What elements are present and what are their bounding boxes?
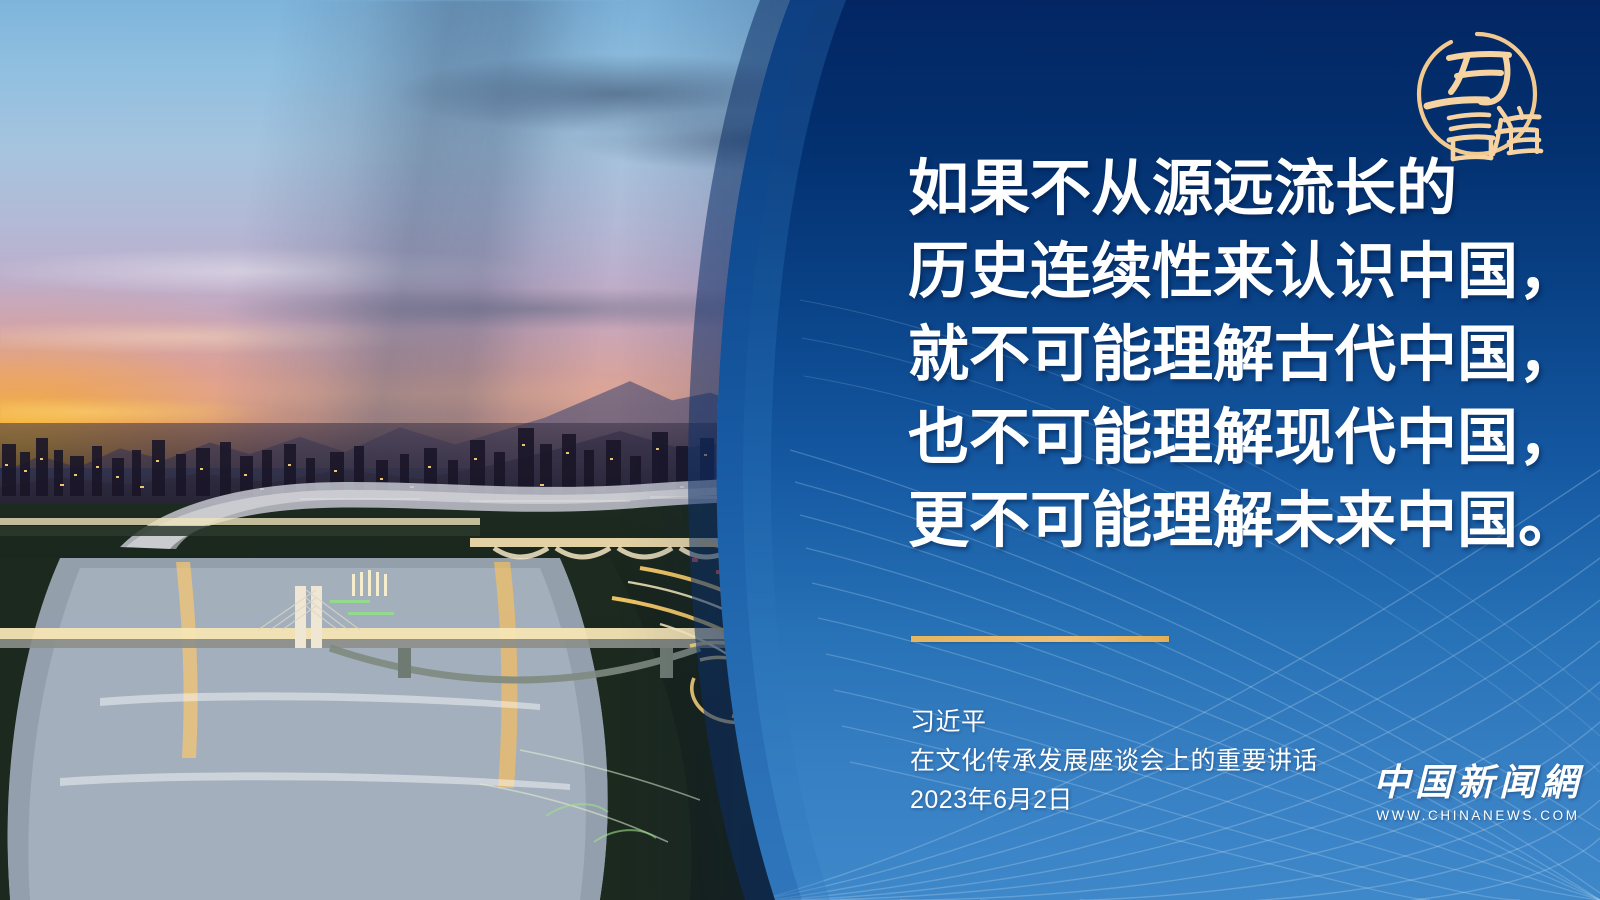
brand-website-url: WWW.CHINANEWS.COM: [1372, 808, 1584, 823]
chinanews-brand: 中国新闻網 WWW.CHINANEWS.COM: [1372, 765, 1584, 823]
quote-block: 如果不从源远流长的 历史连续性来认识中国， 就不可能理解古代中国， 也不可能理解…: [908, 148, 1568, 563]
seal-char-xi: [1449, 54, 1509, 103]
attribution-speaker: 习近平: [910, 703, 1318, 742]
attribution-occasion: 在文化传承发展座谈会上的重要讲话: [910, 742, 1318, 781]
attribution-block: 习近平 在文化传承发展座谈会上的重要讲话 2023年6月2日: [910, 703, 1318, 820]
poster-canvas: 如果不从源远流长的 历史连续性来认识中国， 就不可能理解古代中国， 也不可能理解…: [0, 0, 1600, 900]
quote-line-3: 就不可能理解古代中国，: [908, 314, 1568, 397]
quote-line-2: 历史连续性来认识中国，: [908, 231, 1568, 314]
quote-line-4: 也不可能理解现代中国，: [908, 397, 1568, 480]
quote-line-5: 更不可能理解未来中国。: [908, 480, 1568, 563]
brand-name-cn: 中国新闻網: [1372, 765, 1584, 804]
quote-line-1: 如果不从源远流长的: [908, 148, 1568, 231]
attribution-date: 2023年6月2日: [910, 781, 1318, 820]
gold-divider-rule: [911, 636, 1169, 642]
